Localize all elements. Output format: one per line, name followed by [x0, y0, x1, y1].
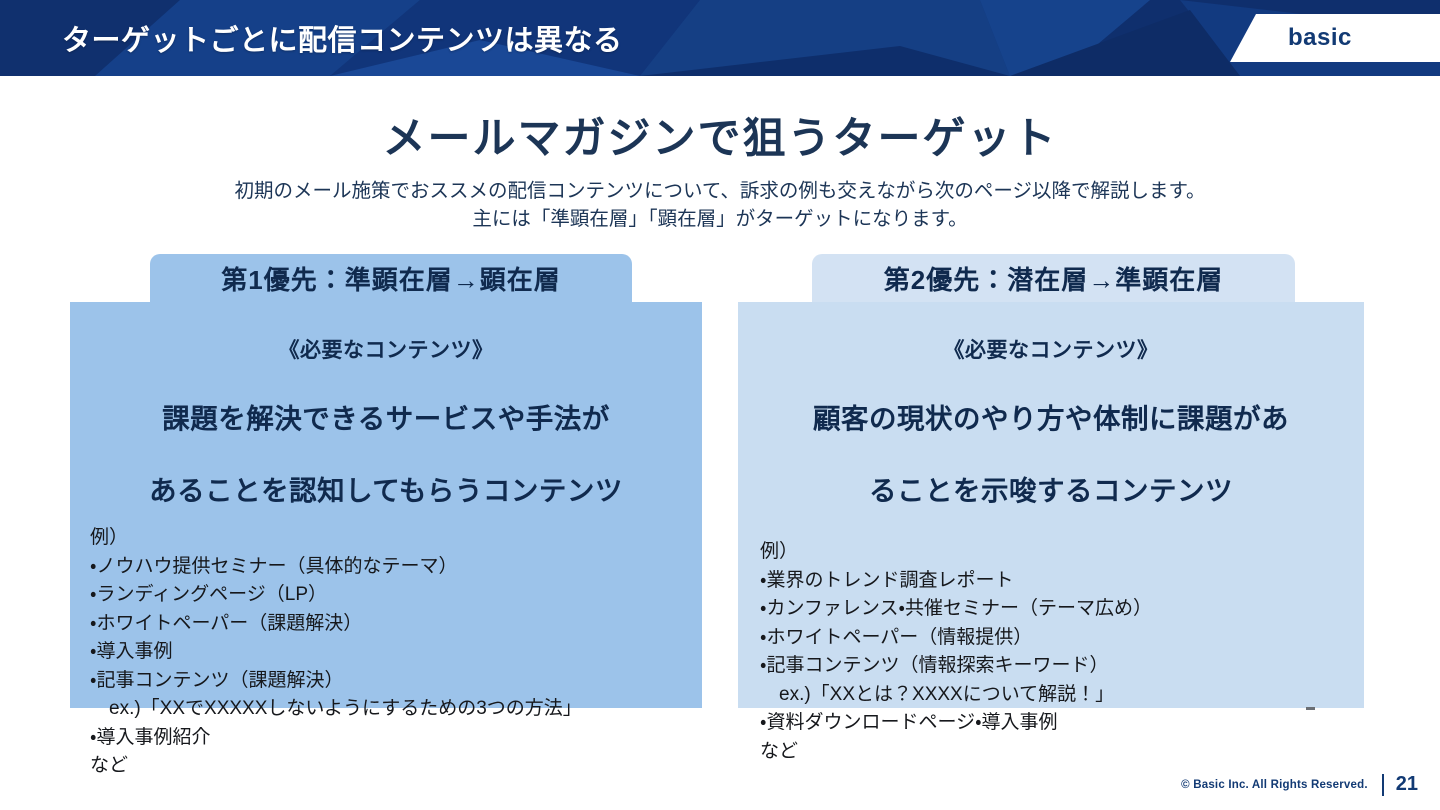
- subtitle-block: 初期のメール施策でおススメの配信コンテンツについて、訴求の例も交えながら次のペー…: [0, 177, 1440, 233]
- panel-example-items-second: ・業界のトレンド調査レポート ・カンファレンス・共催セミナー（テーマ広め） ・ホ…: [760, 567, 1364, 767]
- panel-body-second: 《必要なコンテンツ》 顧客の現状のやり方や体制に課題があ ることを示唆するコンテ…: [738, 302, 1364, 708]
- panel-example-label-second: 例）: [760, 538, 1364, 567]
- panel-heading-label-first: 《必要なコンテンツ》: [70, 336, 702, 366]
- panel-tab-second: 第2優先：潜在層→準顕在層: [812, 254, 1295, 302]
- subtitle-line-1: 初期のメール施策でおススメの配信コンテンツについて、訴求の例も交えながら次のペー…: [0, 177, 1440, 205]
- footer-divider: [1382, 774, 1384, 796]
- brand-label: basic: [1288, 24, 1352, 52]
- panel-heading-line1-first: 課題を解決できるサービスや手法が: [70, 400, 702, 438]
- panel-heading-line2-second: ることを示唆するコンテンツ: [738, 472, 1364, 510]
- slide-footer: © Basic Inc. All Rights Reserved. 21: [1181, 773, 1418, 796]
- brand-badge: basic: [1230, 14, 1440, 62]
- slide-canvas: ターゲットごとに配信コンテンツは異なる basic メールマガジンで狙うターゲッ…: [0, 0, 1440, 810]
- panel-tab-first: 第1優先：準顕在層→顕在層: [150, 254, 632, 302]
- panel-heading-line1-second: 顧客の現状のやり方や体制に課題があ: [738, 400, 1364, 438]
- page-title: ターゲットごとに配信コンテンツは異なる: [62, 0, 623, 76]
- copyright-text: © Basic Inc. All Rights Reserved.: [1181, 779, 1368, 791]
- panel-body-first: 《必要なコンテンツ》 課題を解決できるサービスや手法が あることを認知してもらう…: [70, 302, 702, 708]
- panel-heading-line2-first: あることを認知してもらうコンテンツ: [70, 472, 702, 510]
- stray-mark: [1306, 707, 1315, 710]
- subtitle-line-2: 主には「準顕在層」「顕在層」がターゲットになります。: [0, 205, 1440, 233]
- panel-example-items-first: ・ノウハウ提供セミナー（具体的なテーマ） ・ランディングページ（LP） ・ホワイ…: [90, 553, 702, 781]
- main-heading: メールマガジンで狙うターゲット: [0, 104, 1440, 166]
- slide-header-bar: ターゲットごとに配信コンテンツは異なる basic: [0, 0, 1440, 76]
- panel-example-label-first: 例）: [90, 524, 702, 553]
- panel-heading-label-second: 《必要なコンテンツ》: [738, 336, 1364, 366]
- page-number: 21: [1396, 773, 1418, 796]
